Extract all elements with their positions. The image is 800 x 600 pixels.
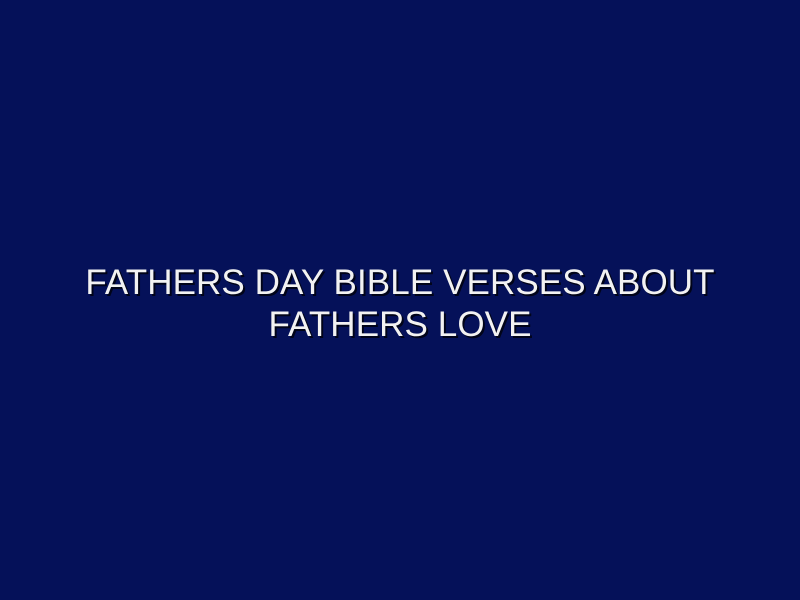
title-block: FATHERS DAY BIBLE VERSES ABOUT FATHERS L… [0, 0, 800, 600]
title-card-canvas: FATHERS DAY BIBLE VERSES ABOUT FATHERS L… [0, 0, 800, 600]
page-title: FATHERS DAY BIBLE VERSES ABOUT FATHERS L… [0, 262, 800, 346]
